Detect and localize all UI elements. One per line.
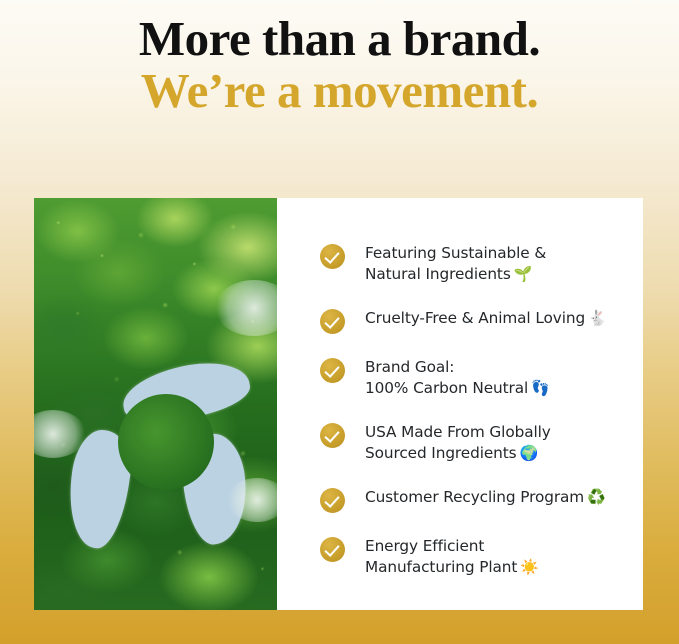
- benefit-line: 100% Carbon Neutral👣: [365, 378, 550, 399]
- promo-banner: More than a brand. We’re a movement. Fea…: [0, 0, 679, 644]
- benefit-line: USA Made From Globally: [365, 422, 551, 443]
- list-item: Energy Efficient Manufacturing Plant☀️: [320, 535, 643, 578]
- benefit-line: Sourced Ingredients🌍: [365, 443, 551, 464]
- recycle-center-island: [118, 394, 214, 490]
- benefit-line-text: Manufacturing Plant: [365, 558, 517, 576]
- benefit-line-text: Cruelty-Free & Animal Loving: [365, 309, 585, 327]
- benefit-line: Featuring Sustainable &: [365, 243, 546, 264]
- list-item: Featuring Sustainable & Natural Ingredie…: [320, 242, 643, 285]
- seedling-emoji: 🌱: [514, 265, 533, 283]
- benefit-text: Customer Recycling Program♻️: [365, 486, 606, 508]
- check-circle-icon: [320, 309, 345, 334]
- recycle-emoji: ♻️: [587, 488, 606, 506]
- benefits-panel: Featuring Sustainable & Natural Ingredie…: [277, 198, 643, 610]
- check-circle-icon: [320, 358, 345, 383]
- benefit-text: Featuring Sustainable & Natural Ingredie…: [365, 242, 546, 285]
- check-circle-icon: [320, 423, 345, 448]
- globe-emoji: 🌍: [520, 444, 539, 462]
- sun-emoji: ☀️: [520, 558, 539, 576]
- headline-line-2: We’re a movement.: [0, 66, 679, 116]
- footprints-emoji: 👣: [531, 379, 550, 397]
- list-item: Cruelty-Free & Animal Loving🐇: [320, 307, 643, 334]
- headline-line-1: More than a brand.: [0, 14, 679, 64]
- benefit-line: Customer Recycling Program♻️: [365, 487, 606, 508]
- benefit-text: Brand Goal: 100% Carbon Neutral👣: [365, 356, 550, 399]
- benefit-line: Natural Ingredients🌱: [365, 264, 546, 285]
- benefit-line: Energy Efficient: [365, 536, 539, 557]
- benefits-list: Featuring Sustainable & Natural Ingredie…: [320, 242, 643, 578]
- check-circle-icon: [320, 537, 345, 562]
- list-item: USA Made From Globally Sourced Ingredien…: [320, 421, 643, 464]
- headline-block: More than a brand. We’re a movement.: [0, 14, 679, 116]
- benefit-line-text: Natural Ingredients: [365, 265, 511, 283]
- check-circle-icon: [320, 488, 345, 513]
- feature-card: Featuring Sustainable & Natural Ingredie…: [34, 198, 643, 610]
- forest-photo: [34, 198, 277, 610]
- benefit-text: Cruelty-Free & Animal Loving🐇: [365, 307, 607, 329]
- check-circle-icon: [320, 244, 345, 269]
- list-item: Brand Goal: 100% Carbon Neutral👣: [320, 356, 643, 399]
- benefit-line: Manufacturing Plant☀️: [365, 557, 539, 578]
- benefit-text: USA Made From Globally Sourced Ingredien…: [365, 421, 551, 464]
- rabbit-emoji: 🐇: [588, 309, 607, 327]
- benefit-line: Cruelty-Free & Animal Loving🐇: [365, 308, 607, 329]
- benefit-text: Energy Efficient Manufacturing Plant☀️: [365, 535, 539, 578]
- benefit-line-text: Sourced Ingredients: [365, 444, 517, 462]
- benefit-line-text: 100% Carbon Neutral: [365, 379, 528, 397]
- benefit-line-text: Customer Recycling Program: [365, 488, 584, 506]
- list-item: Customer Recycling Program♻️: [320, 486, 643, 513]
- benefit-line: Brand Goal:: [365, 357, 550, 378]
